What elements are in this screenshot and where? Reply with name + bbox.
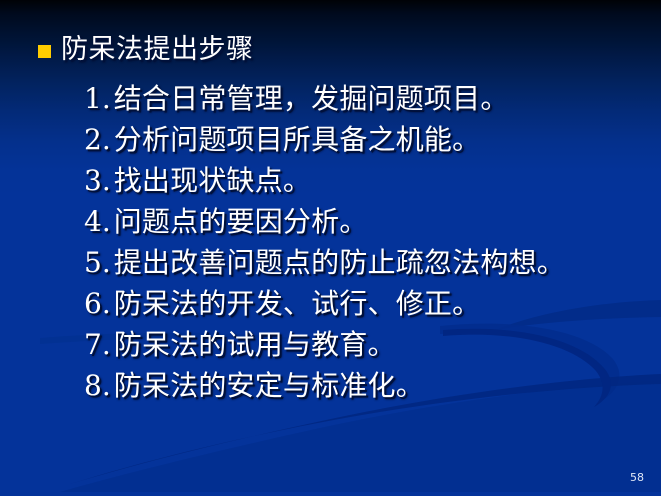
list-item-number: 1. <box>84 78 111 119</box>
presentation-slide: 防呆法提出步骤 1. 结合日常管理，发掘问题项目。 2. 分析问题项目所具备之机… <box>0 0 661 496</box>
slide-content: 防呆法提出步骤 1. 结合日常管理，发掘问题项目。 2. 分析问题项目所具备之机… <box>0 0 661 496</box>
page-number: 58 <box>630 471 644 484</box>
list-item: 6. 防呆法的开发、试行、修正。 <box>84 283 565 324</box>
list-item-number: 5. <box>84 242 111 283</box>
list-item-number: 2. <box>84 119 111 160</box>
list-item-number: 6. <box>84 283 111 324</box>
list-item-number: 8. <box>84 365 111 406</box>
list-item-number: 7. <box>84 324 111 365</box>
square-bullet-icon <box>38 45 51 58</box>
list-item-number: 3. <box>84 160 111 201</box>
steps-list: 1. 结合日常管理，发掘问题项目。 2. 分析问题项目所具备之机能。 3. 找出… <box>84 78 565 406</box>
list-item: 1. 结合日常管理，发掘问题项目。 <box>84 78 565 119</box>
list-item: 8. 防呆法的安定与标准化。 <box>84 365 565 406</box>
list-item-label: 找出现状缺点。 <box>114 160 311 201</box>
list-item: 5. 提出改善问题点的防止疏忽法构想。 <box>84 242 565 283</box>
list-item-label: 分析问题项目所具备之机能。 <box>114 119 481 160</box>
list-item-label: 防呆法的安定与标准化。 <box>114 365 424 406</box>
list-item-label: 防呆法的试用与教育。 <box>114 324 396 365</box>
list-item-label: 问题点的要因分析。 <box>114 201 368 242</box>
list-item: 2. 分析问题项目所具备之机能。 <box>84 119 565 160</box>
list-item-label: 提出改善问题点的防止疏忽法构想。 <box>114 242 565 283</box>
slide-title: 防呆法提出步骤 <box>38 33 254 67</box>
page-title: 防呆法提出步骤 <box>61 33 254 67</box>
list-item: 3. 找出现状缺点。 <box>84 160 565 201</box>
list-item-label: 防呆法的开发、试行、修正。 <box>114 283 481 324</box>
list-item-number: 4. <box>84 201 111 242</box>
list-item: 4. 问题点的要因分析。 <box>84 201 565 242</box>
list-item: 7. 防呆法的试用与教育。 <box>84 324 565 365</box>
list-item-label: 结合日常管理，发掘问题项目。 <box>114 78 509 119</box>
